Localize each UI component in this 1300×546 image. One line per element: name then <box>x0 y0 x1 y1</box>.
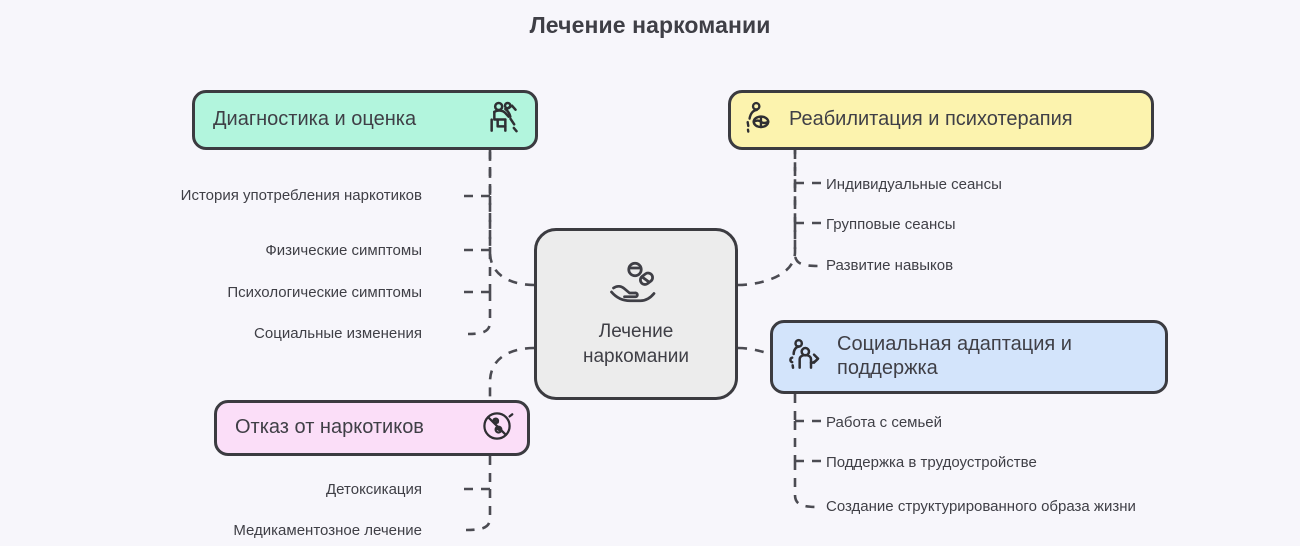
branch-node-social[interactable]: Социальная адаптация и поддержка <box>770 320 1168 394</box>
leaf-diagnostics-2: Психологические симптомы <box>122 283 422 303</box>
branch-label-social-line1: Социальная адаптация и <box>837 333 1072 355</box>
people-support-icon <box>785 335 825 380</box>
branch-label-refusal: Отказ от наркотиков <box>235 416 424 440</box>
branch-node-refusal[interactable]: Отказ от наркотиков <box>214 400 530 456</box>
leaf-social-2: Создание структурированного образа жизни <box>826 497 1136 517</box>
branch-label-diagnostics: Диагностика и оценка <box>213 108 416 132</box>
leaf-refusal-0: Детоксикация <box>162 480 422 500</box>
branch-node-diagnostics[interactable]: Диагностика и оценка <box>192 90 538 150</box>
leaf-rehab-1: Групповые сеансы <box>826 215 956 235</box>
center-node-label: Лечение наркомании <box>583 320 689 369</box>
leaf-diagnostics-0: История употребления наркотиков <box>122 186 422 206</box>
person-examination-icon <box>485 98 525 143</box>
branch-label-social: Социальная адаптация и поддержка <box>837 333 1072 380</box>
center-label-line2: наркомании <box>583 346 689 367</box>
leaf-social-0: Работа с семьей <box>826 413 942 433</box>
leaf-diagnostics-1: Физические симптомы <box>122 241 422 261</box>
branch-label-social-line2: поддержка <box>837 357 938 379</box>
leaf-rehab-0: Индивидуальные сеансы <box>826 175 1002 195</box>
center-node[interactable]: Лечение наркомании <box>534 228 738 400</box>
leaf-refusal-1: Медикаментозное лечение <box>162 521 422 541</box>
leaf-social-1: Поддержка в трудоустройстве <box>826 453 1037 473</box>
no-drugs-icon <box>479 408 515 449</box>
branch-label-rehab: Реабилитация и психотерапия <box>789 108 1073 132</box>
therapy-session-icon <box>741 99 779 142</box>
leaf-diagnostics-3: Социальные изменения <box>122 324 422 344</box>
hand-pills-icon <box>605 259 667 314</box>
center-label-line1: Лечение <box>599 321 674 342</box>
branch-node-rehab[interactable]: Реабилитация и психотерапия <box>728 90 1154 150</box>
page-title: Лечение наркомании <box>0 12 1300 39</box>
leaf-rehab-2: Развитие навыков <box>826 256 953 276</box>
mindmap-canvas: Лечение наркомании Диагностика и оценка … <box>0 0 1300 546</box>
